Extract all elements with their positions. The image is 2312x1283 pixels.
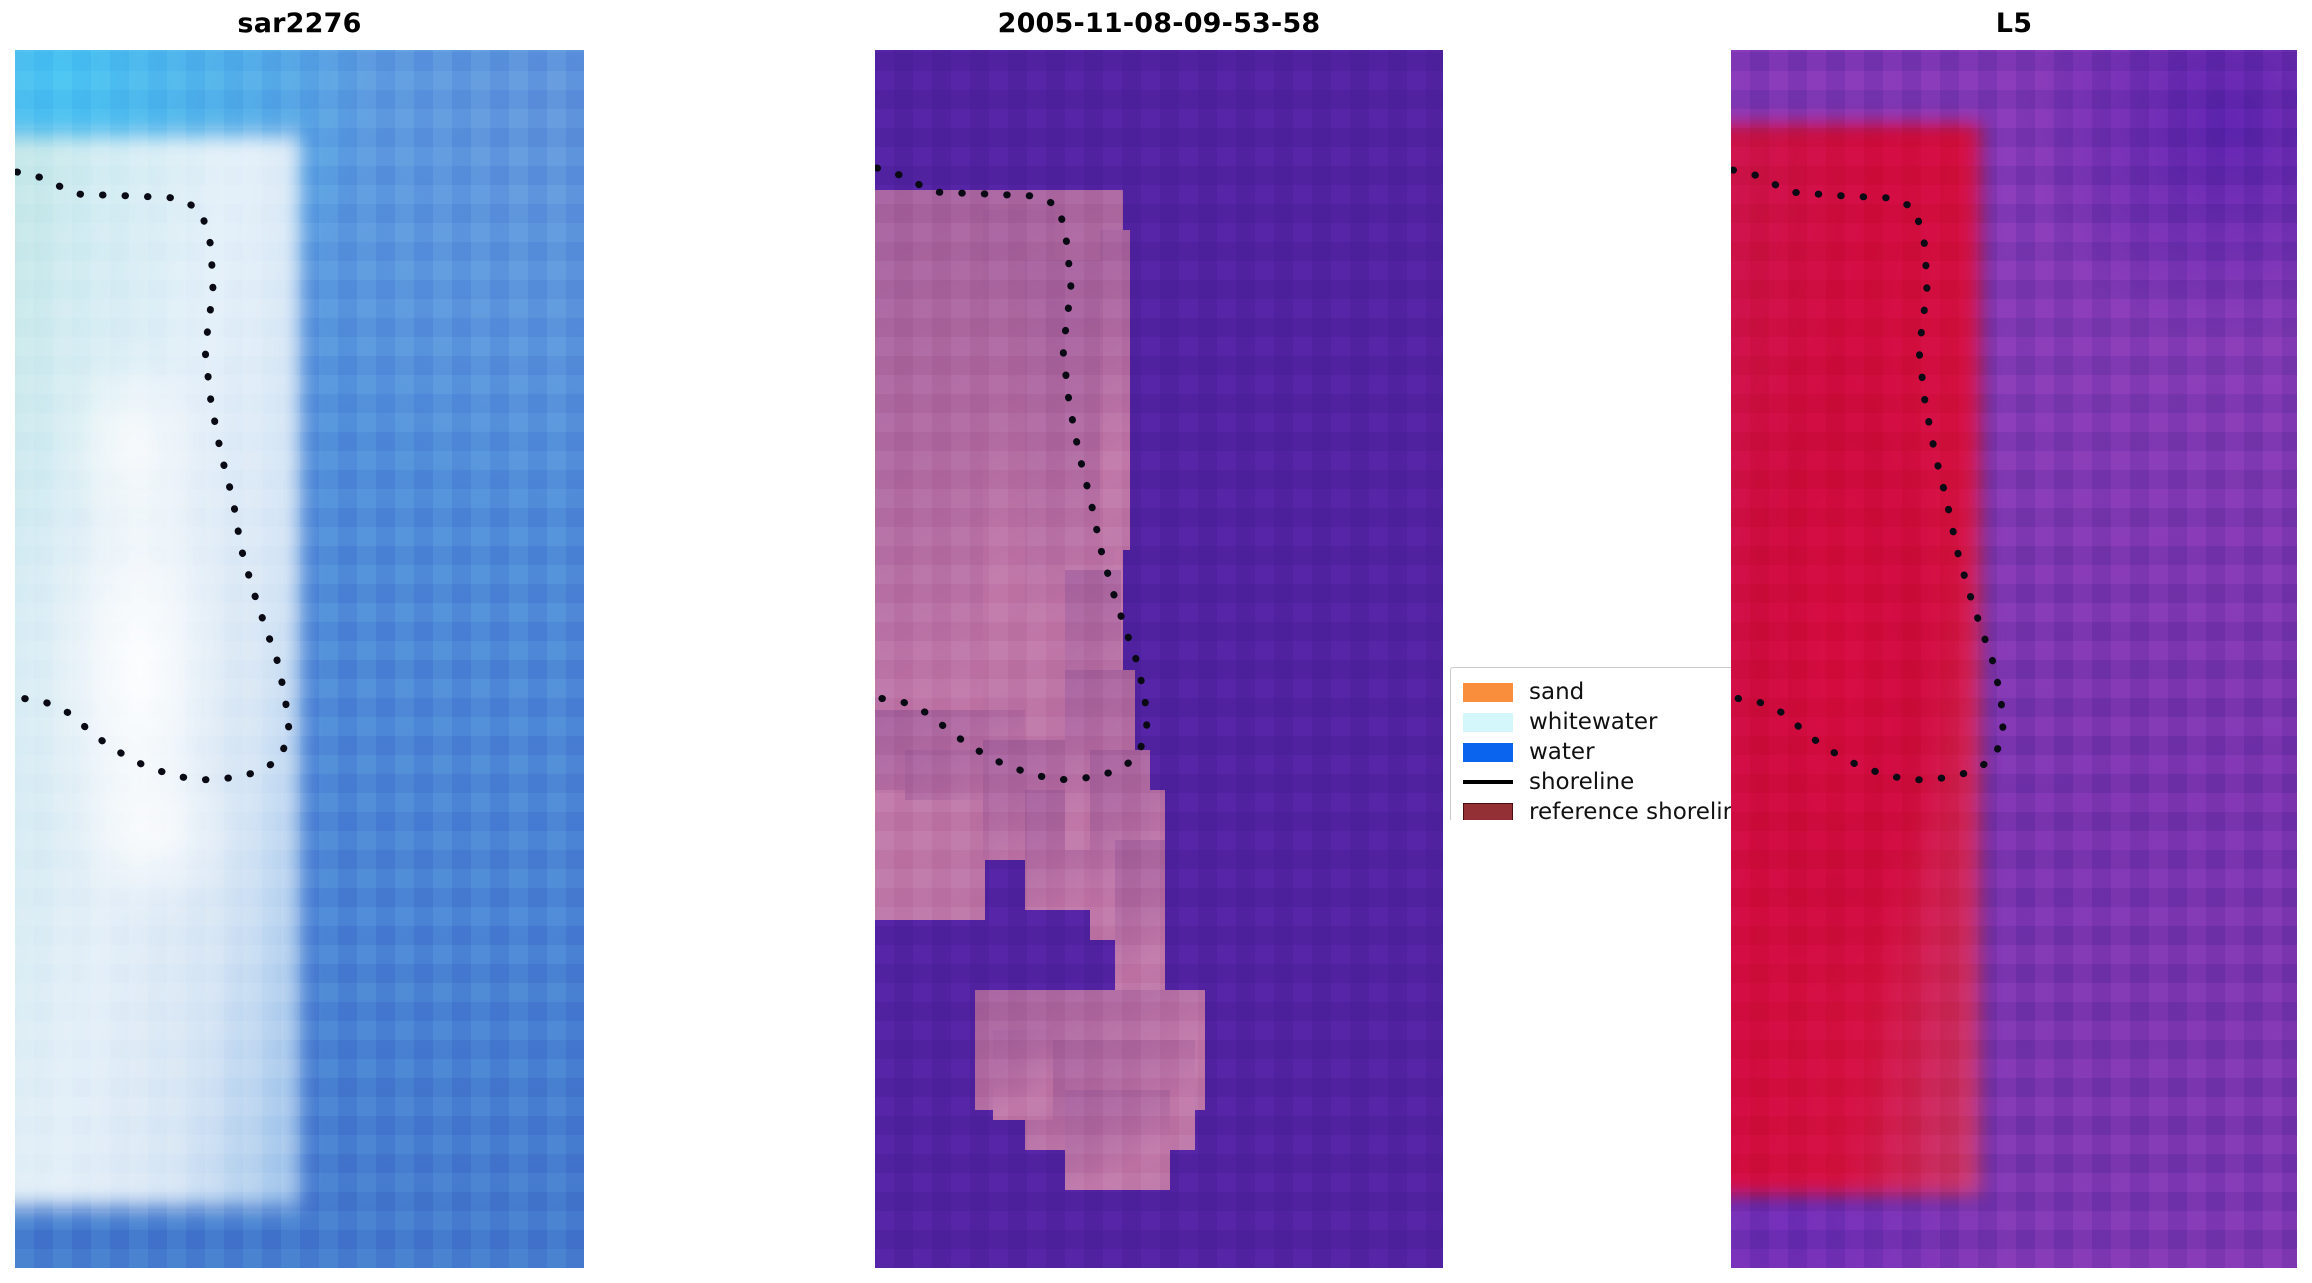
panel-title-sar: sar2276 (15, 8, 584, 39)
legend[interactable]: sand whitewater water shoreline (1450, 667, 1731, 820)
legend-item-whitewater[interactable]: whitewater (1461, 707, 1731, 737)
l5-index-raster (1731, 50, 2297, 1268)
legend-item-shoreline[interactable]: shoreline (1461, 767, 1731, 797)
classification-pixel-texture (875, 50, 1443, 1268)
panel-sar-image[interactable] (15, 50, 584, 1268)
legend-item-reference-shoreline-buffer[interactable]: reference shoreline b (1461, 797, 1731, 820)
legend-label-sand: sand (1529, 681, 1584, 704)
legend-swatch-whitewater (1461, 713, 1515, 732)
classification-raster (875, 50, 1443, 1268)
panel-title-l5: L5 (1731, 8, 2297, 39)
legend-label-shoreline: shoreline (1529, 771, 1634, 794)
legend-swatch-reference-shoreline-buffer (1461, 803, 1515, 821)
sar-pixel-texture (15, 50, 584, 1268)
legend-label-water: water (1529, 741, 1595, 764)
legend-label-reference-shoreline-buffer: reference shoreline b (1529, 801, 1731, 821)
l5-pixel-texture (1731, 50, 2297, 1268)
sar-backscatter-raster (15, 50, 584, 1268)
legend-swatch-sand (1461, 683, 1515, 702)
legend-item-sand[interactable]: sand (1461, 677, 1731, 707)
figure-canvas: sar2276 2005-11-08-09-53-58 (0, 0, 2312, 1283)
legend-item-water[interactable]: water (1461, 737, 1731, 767)
legend-swatch-shoreline-line (1461, 780, 1515, 784)
legend-clip-region: sand whitewater water shoreline (1448, 660, 1731, 820)
panel-l5-image[interactable] (1731, 50, 2297, 1268)
panel-title-classification: 2005-11-08-09-53-58 (875, 8, 1443, 39)
legend-swatch-water (1461, 743, 1515, 762)
legend-label-whitewater: whitewater (1529, 711, 1657, 734)
panel-classification-map[interactable] (875, 50, 1443, 1268)
